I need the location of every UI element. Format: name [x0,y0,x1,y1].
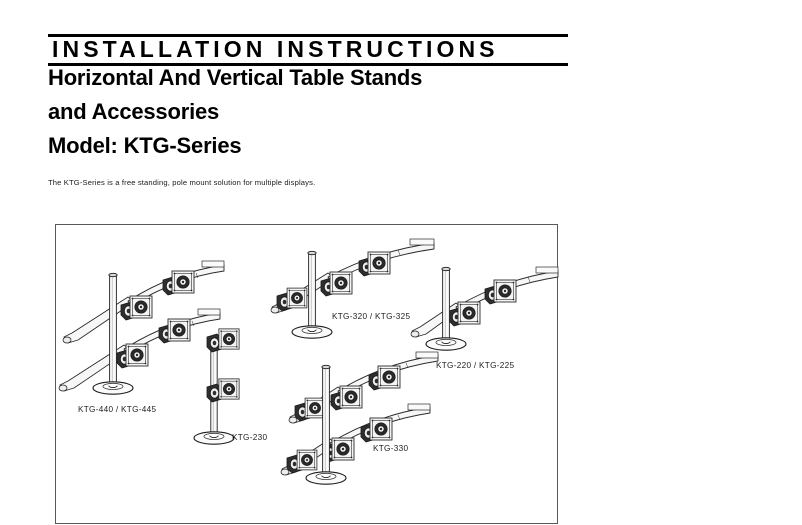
page-root: INSTALLATION INSTRUCTIONS Horizontal And… [0,0,802,501]
subtitle-line-1: Horizontal And Vertical Table Stands [48,66,422,90]
subtitle-line-2: and Accessories [48,100,219,124]
document-title-block: INSTALLATION INSTRUCTIONS [48,34,568,66]
illustration-ktg-220-225 [411,267,558,350]
illustration-ktg-440-445 [59,261,224,394]
figure-label-ktg-230: KTG-230 [232,433,267,442]
intro-paragraph: The KTG-Series is a free standing, pole … [48,178,315,187]
figure-label-ktg-320-325: KTG-320 / KTG-325 [332,312,410,321]
model-heading: Model: KTG-Series [48,134,241,158]
product-illustrations [56,225,559,525]
figure-panel: KTG-440 / KTG-445 KTG-230 KTG-320 / KTG-… [55,224,558,524]
illustration-ktg-320-325 [271,239,434,338]
document-title: INSTALLATION INSTRUCTIONS [48,37,568,62]
illustration-ktg-230 [194,329,239,444]
figure-label-ktg-440-445: KTG-440 / KTG-445 [78,405,156,414]
figure-label-ktg-220-225: KTG-220 / KTG-225 [436,361,514,370]
illustration-ktg-330 [281,352,438,484]
figure-label-ktg-330: KTG-330 [373,444,408,453]
